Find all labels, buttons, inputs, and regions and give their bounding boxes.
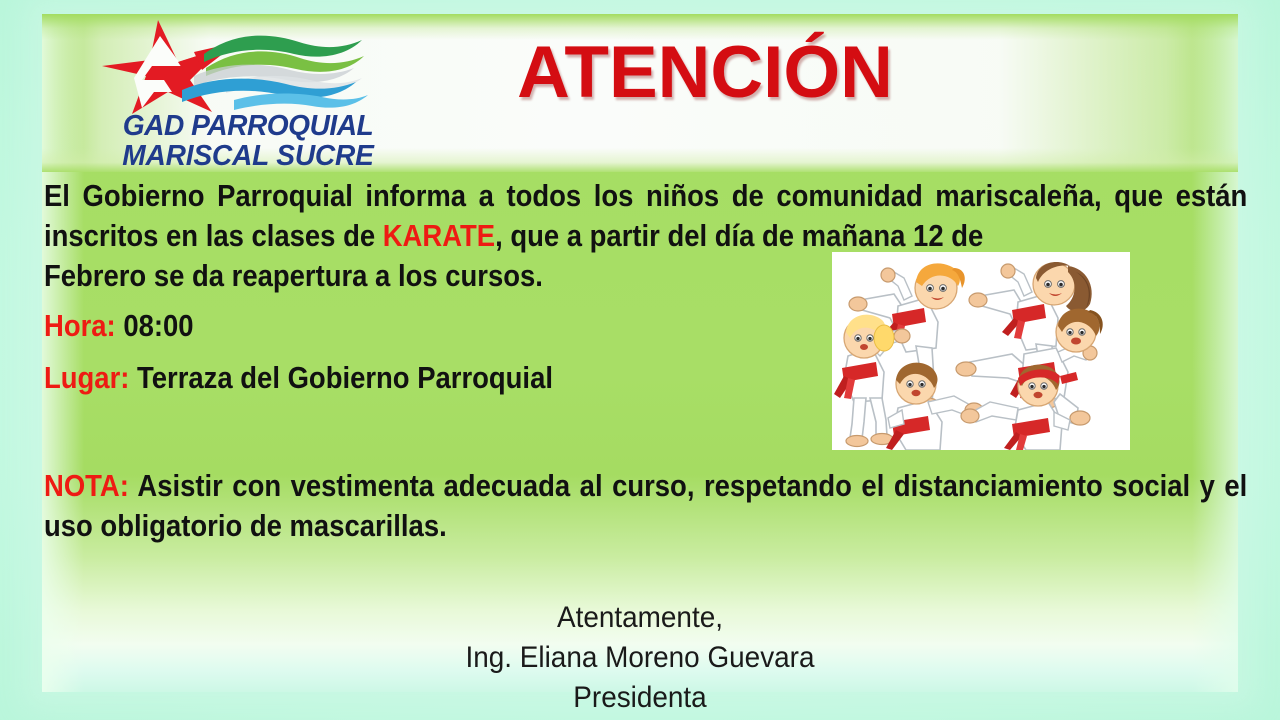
karate-kids-illustration: [832, 252, 1130, 450]
nota-label: NOTA:: [44, 469, 129, 503]
signature-role: Presidenta: [361, 678, 919, 718]
hora-label: Hora:: [44, 309, 116, 343]
lugar-label: Lugar:: [44, 361, 129, 395]
logo-line-1: GAD PARROQUIAL: [106, 112, 389, 142]
hora-value-spacer: [116, 309, 124, 343]
signature-block: Atentamente, Ing. Eliana Moreno Guevara …: [361, 598, 919, 718]
logo-line-2: MARISCAL SUCRE: [106, 142, 389, 172]
signature-closing: Atentamente,: [361, 598, 919, 638]
lugar-value: Terraza del Gobierno Parroquial: [137, 361, 553, 395]
star-waves-logo-icon: [94, 18, 394, 114]
karate-highlight: KARATE: [383, 219, 495, 253]
hora-value: 08:00: [123, 309, 193, 343]
page-title: ATENCIÓN: [470, 36, 940, 109]
karate-kids-image: [832, 252, 1130, 450]
announcement-poster: GAD PARROQUIAL MARISCAL SUCRE ATENCIÓN E…: [0, 0, 1280, 720]
nota-paragraph: NOTA: Asistir con vestimenta adecuada al…: [44, 466, 1247, 546]
gad-parroquial-logo: GAD PARROQUIAL MARISCAL SUCRE: [94, 18, 394, 166]
paragraph-part-2: , que a partir del día de mañana 12 de: [495, 219, 983, 253]
signature-name: Ing. Eliana Moreno Guevara: [361, 638, 919, 678]
logo-wordmark: GAD PARROQUIAL MARISCAL SUCRE: [106, 112, 389, 171]
nota-text: Asistir con vestimenta adecuada al curso…: [44, 469, 1247, 543]
